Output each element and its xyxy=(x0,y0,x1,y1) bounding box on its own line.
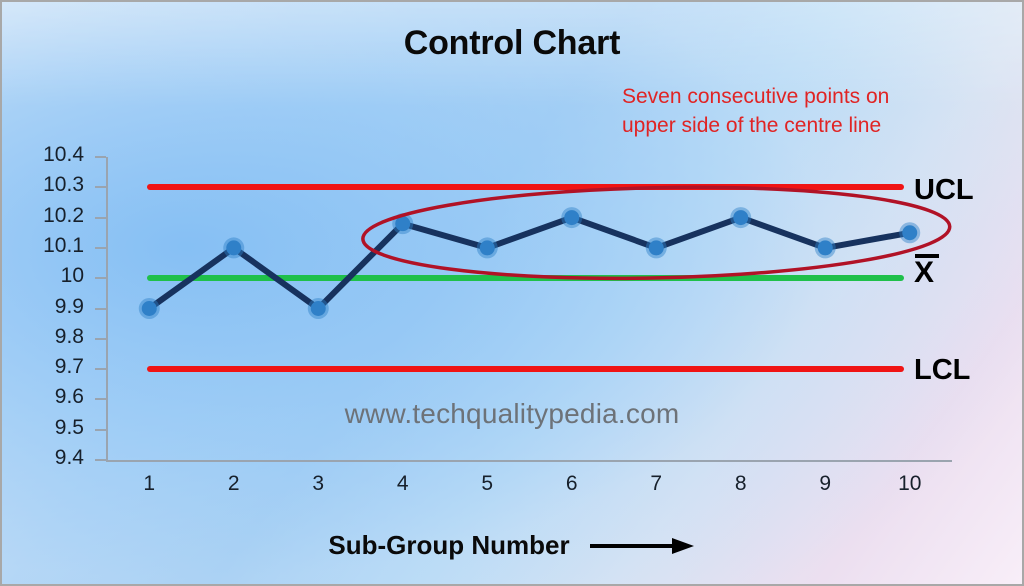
seven-points-highlight-ellipse xyxy=(362,182,951,284)
highlight-layer xyxy=(2,2,1024,586)
control-chart-image: Control Chart Seven consecutive points o… xyxy=(0,0,1024,586)
